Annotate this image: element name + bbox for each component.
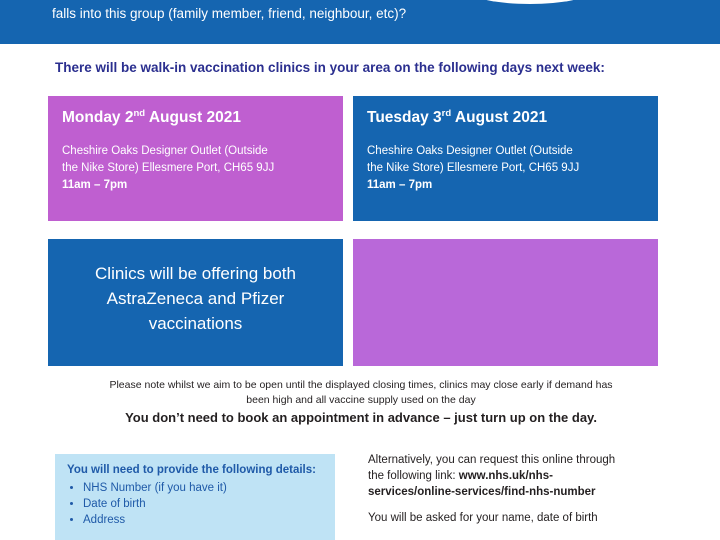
alternative-line-1: Alternatively, you can request this onli… [368,454,615,466]
nhs-number-link-line-2[interactable]: services/online-services/find-nhs-number [368,486,596,498]
please-note-line-2: been high and all vaccine supply used on… [56,393,666,408]
alternative-paragraph: Alternatively, you can request this onli… [368,452,668,500]
vaccine-offering-card: Clinics will be offering both AstraZenec… [48,239,343,366]
top-banner: falls into this group (family member, fr… [0,0,720,44]
banner-question-text: falls into this group (family member, fr… [52,6,406,21]
no-booking-required-text: You don’t need to book an appointment in… [56,410,666,425]
clinic-day-title-suffix: August 2021 [145,109,241,126]
clinic-day-title-prefix: Monday 2 [62,109,133,126]
offering-line-1: Clinics will be offering both [60,261,331,286]
page-body: There will be walk-in vaccination clinic… [0,44,720,540]
required-details-card: You will need to provide the following d… [55,454,335,540]
clinic-day-title: Monday 2nd August 2021 [62,108,329,127]
clinic-address-line-1: Cheshire Oaks Designer Outlet (Outside [367,143,644,160]
page-headline: There will be walk-in vaccination clinic… [55,60,675,75]
nhs-number-link-line-1[interactable]: www.nhs.uk/nhs- [459,470,553,482]
empty-purple-card [353,239,658,366]
asked-for-details-text: You will be asked for your name, date of… [368,510,668,526]
clinic-day-card-monday: Monday 2nd August 2021 Cheshire Oaks Des… [48,96,343,221]
clinic-address-line-2: the Nike Store) Ellesmere Port, CH65 9JJ [367,160,644,177]
please-note-text: Please note whilst we aim to be open unt… [56,378,666,407]
please-note-line-1: Please note whilst we aim to be open unt… [56,378,666,393]
clinic-address-line-1: Cheshire Oaks Designer Outlet (Outside [62,143,329,160]
banner-ellipse-decoration [470,0,590,4]
alternative-online-request-text: Alternatively, you can request this onli… [368,452,668,536]
clinic-day-title-suffix: August 2021 [451,109,547,126]
clinic-day-title-ordinal: nd [133,108,145,119]
list-item: Address [83,512,323,528]
clinic-day-title-prefix: Tuesday 3 [367,109,442,126]
clinic-day-title-ordinal: rd [442,108,452,119]
offering-line-2: AstraZeneca and Pfizer [60,286,331,311]
clinic-opening-hours: 11am – 7pm [367,177,644,194]
offering-line-3: vaccinations [60,311,331,336]
list-item: NHS Number (if you have it) [83,480,323,496]
clinic-opening-hours: 11am – 7pm [62,177,329,194]
clinic-address-line-2: the Nike Store) Ellesmere Port, CH65 9JJ [62,160,329,177]
clinic-day-card-tuesday: Tuesday 3rd August 2021 Cheshire Oaks De… [353,96,658,221]
required-details-list: NHS Number (if you have it) Date of birt… [67,480,323,528]
required-details-title: You will need to provide the following d… [67,464,323,476]
alternative-line-2: the following link: [368,470,459,482]
list-item: Date of birth [83,496,323,512]
clinic-day-title: Tuesday 3rd August 2021 [367,108,644,127]
